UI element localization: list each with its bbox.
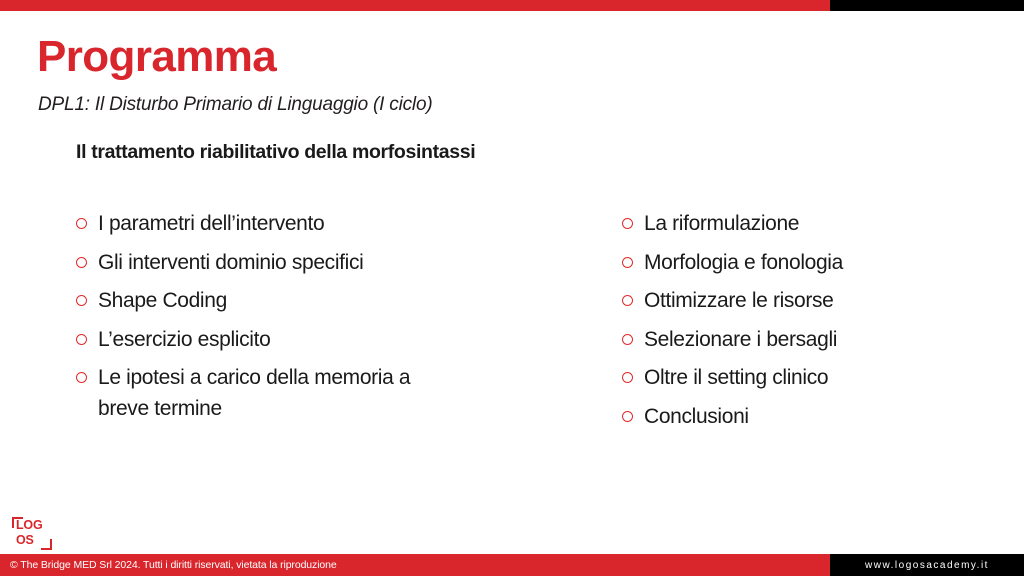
footer-website-url[interactable]: www.logosacademy.it <box>865 560 989 571</box>
section-heading: Il trattamento riabilitativo della morfo… <box>76 141 475 164</box>
circle-bullet-icon <box>76 218 87 229</box>
top-bar-red-segment <box>0 0 830 11</box>
logo-line-2: OS <box>16 533 42 548</box>
list-item-label: Conclusioni <box>644 401 749 432</box>
list-item-label-continuation: breve termine <box>98 393 410 424</box>
list-item: Selezionare i bersagli <box>622 324 1012 356</box>
agenda-right-column: La riformulazione Morfologia e fonologia… <box>622 208 1012 439</box>
list-item-label: La riformulazione <box>644 208 799 239</box>
circle-bullet-icon <box>76 257 87 268</box>
page-title: Programma <box>37 33 276 81</box>
list-item: Gli interventi dominio specifici <box>76 247 596 279</box>
logo-wordmark: LOG OS <box>16 518 42 548</box>
list-item: Morfologia e fonologia <box>622 247 1012 279</box>
list-item-label: Shape Coding <box>98 285 227 316</box>
list-item: La riformulazione <box>622 208 1012 240</box>
list-item-label: Gli interventi dominio specifici <box>98 247 363 278</box>
list-item-label: Le ipotesi a carico della memoria a brev… <box>98 362 410 424</box>
list-item-label: Morfologia e fonologia <box>644 247 843 278</box>
top-accent-bar <box>0 0 1024 11</box>
footer-copyright: © The Bridge MED Srl 2024. Tutti i dirit… <box>0 559 337 571</box>
logo-line-1: LOG <box>16 518 42 533</box>
list-item-label: Selezionare i bersagli <box>644 324 837 355</box>
list-item-label: I parametri dell’intervento <box>98 208 324 239</box>
list-item: Ottimizzare le risorse <box>622 285 1012 317</box>
list-item: Le ipotesi a carico della memoria a brev… <box>76 362 596 424</box>
top-bar-black-segment <box>830 0 1024 11</box>
circle-bullet-icon <box>622 372 633 383</box>
list-item: I parametri dell’intervento <box>76 208 596 240</box>
list-item: Oltre il setting clinico <box>622 362 1012 394</box>
logos-logo: LOG OS <box>12 517 52 550</box>
list-item: L’esercizio esplicito <box>76 324 596 356</box>
agenda-left-column: I parametri dell’intervento Gli interven… <box>76 208 596 431</box>
footer-bar: © The Bridge MED Srl 2024. Tutti i dirit… <box>0 554 1024 576</box>
list-item-label: L’esercizio esplicito <box>98 324 270 355</box>
footer-black-segment: www.logosacademy.it <box>830 554 1024 576</box>
slide: Programma DPL1: Il Disturbo Primario di … <box>0 0 1024 576</box>
circle-bullet-icon <box>76 372 87 383</box>
list-item: Conclusioni <box>622 401 1012 433</box>
list-item-label: Ottimizzare le risorse <box>644 285 834 316</box>
circle-bullet-icon <box>622 334 633 345</box>
circle-bullet-icon <box>622 257 633 268</box>
circle-bullet-icon <box>76 295 87 306</box>
circle-bullet-icon <box>622 411 633 422</box>
list-item-label: Oltre il setting clinico <box>644 362 828 393</box>
footer-red-segment: © The Bridge MED Srl 2024. Tutti i dirit… <box>0 554 830 576</box>
circle-bullet-icon <box>622 295 633 306</box>
logo-bracket-bottomright-icon <box>41 539 52 550</box>
list-item: Shape Coding <box>76 285 596 317</box>
circle-bullet-icon <box>622 218 633 229</box>
circle-bullet-icon <box>76 334 87 345</box>
page-subtitle: DPL1: Il Disturbo Primario di Linguaggio… <box>38 94 432 116</box>
